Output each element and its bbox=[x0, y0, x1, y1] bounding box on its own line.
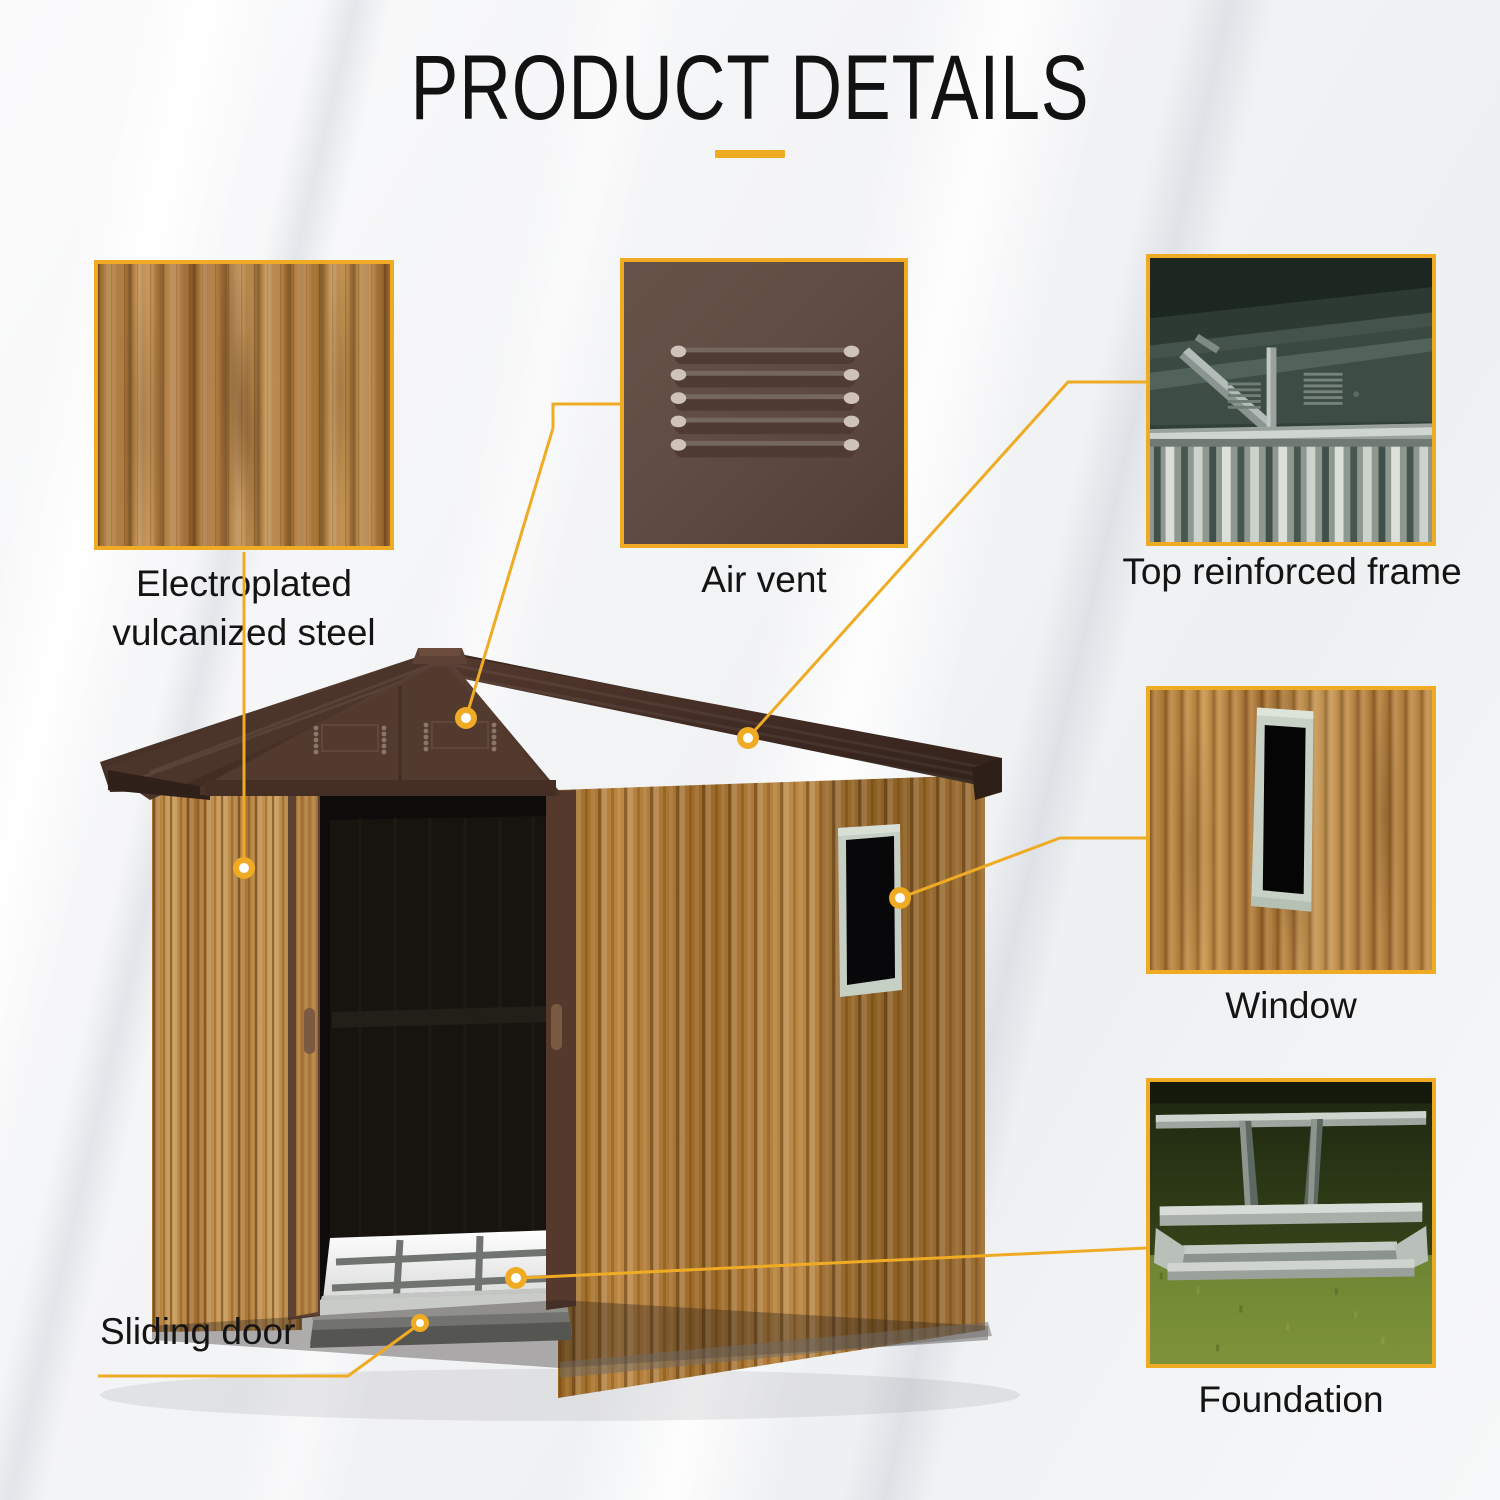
callout-image-foundation bbox=[1146, 1078, 1436, 1368]
window-graphic bbox=[1150, 690, 1432, 970]
foundation-frame-graphic bbox=[1150, 1082, 1432, 1364]
callout-label-sliding-door: Sliding door bbox=[100, 1308, 360, 1357]
wood-grain-swirl bbox=[98, 264, 390, 546]
interior-roof-frame-graphic bbox=[1150, 258, 1432, 542]
callout-label-window: Window bbox=[1146, 982, 1436, 1031]
callout-image-air-vent bbox=[620, 258, 908, 548]
louvre-vent-graphic bbox=[624, 262, 904, 544]
callout-label-electroplated: Electroplated vulcanized steel bbox=[34, 560, 454, 658]
shed-window bbox=[838, 824, 902, 997]
callout-label-top-frame: Top reinforced frame bbox=[1096, 548, 1488, 597]
callout-label-foundation: Foundation bbox=[1146, 1376, 1436, 1425]
callout-label-air-vent: Air vent bbox=[620, 556, 908, 605]
callout-image-electroplated bbox=[94, 260, 394, 550]
infographic-canvas: PRODUCT DETAILS bbox=[0, 0, 1500, 1500]
callout-image-top-frame bbox=[1146, 254, 1436, 546]
callout-image-window bbox=[1146, 686, 1436, 974]
